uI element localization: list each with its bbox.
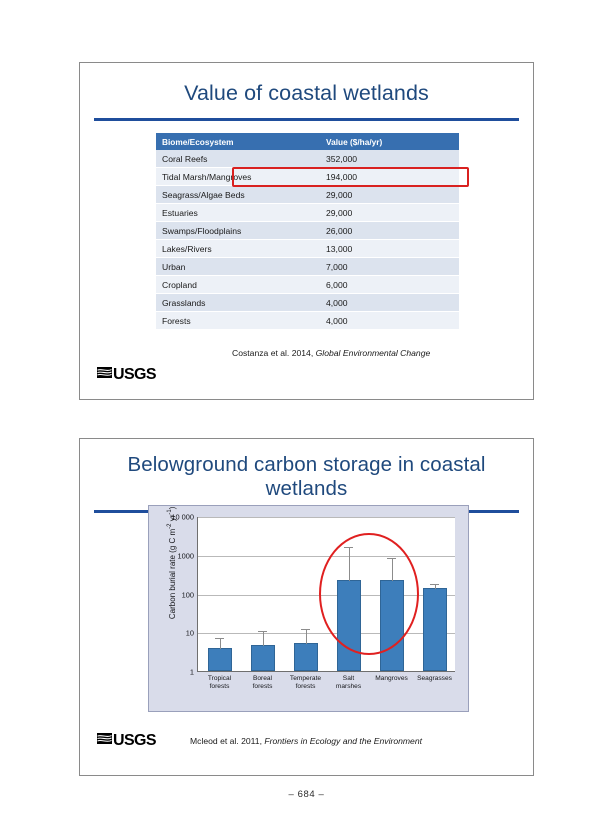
value-table-container: Biome/Ecosystem Value ($/ha/yr) Coral Re… xyxy=(156,133,459,330)
bar-mangroves xyxy=(380,580,404,671)
usgs-wave-icon xyxy=(97,365,112,385)
y-axis-title: Carbon burial rate (g C m-2 yr-1) xyxy=(167,488,177,638)
x-axis-tick-label: Tropical forests xyxy=(208,675,231,691)
document-page: Value of coastal wetlands Biome/Ecosyste… xyxy=(0,0,613,840)
gridline xyxy=(198,595,455,596)
y-axis-tick-label: 10 000 xyxy=(171,513,194,522)
cell-value: 6,000 xyxy=(320,276,459,294)
table-row: Estuaries29,000 xyxy=(156,204,459,222)
usgs-logo-2: USGS xyxy=(97,731,156,751)
carbon-burial-chart: Carbon burial rate (g C m-2 yr-1) 110100… xyxy=(148,505,469,712)
error-bar-cap xyxy=(258,631,267,632)
error-bar xyxy=(306,629,307,644)
value-table: Biome/Ecosystem Value ($/ha/yr) Coral Re… xyxy=(156,133,459,330)
column-header-biome: Biome/Ecosystem xyxy=(156,133,320,150)
bar-seagrasses xyxy=(423,588,447,671)
bar-boreal-forests xyxy=(251,645,275,671)
table-row: Tidal Marsh/Mangroves194,000 xyxy=(156,168,459,186)
y-axis-tick-label: 1 xyxy=(190,668,194,677)
error-bar-cap xyxy=(215,638,224,639)
error-bar xyxy=(220,638,221,649)
usgs-logo: USGS xyxy=(97,365,156,385)
table-header-row: Biome/Ecosystem Value ($/ha/yr) xyxy=(156,133,459,150)
cell-biome: Urban xyxy=(156,258,320,276)
cell-value: 26,000 xyxy=(320,222,459,240)
usgs-wave-icon-2 xyxy=(97,731,112,751)
page-number: – 684 – xyxy=(0,789,613,800)
citation-mcleod: Mcleod et al. 2011, Frontiers in Ecology… xyxy=(190,736,422,746)
cell-value: 194,000 xyxy=(320,168,459,186)
citation-costanza: Costanza et al. 2014, Global Environment… xyxy=(232,348,430,358)
title-divider xyxy=(94,118,519,121)
gridline xyxy=(198,556,455,557)
cell-value: 7,000 xyxy=(320,258,459,276)
y-axis-tick-label: 1000 xyxy=(178,551,194,560)
gridline xyxy=(198,517,455,518)
bar-temperate-forests xyxy=(294,643,318,671)
table-row: Urban7,000 xyxy=(156,258,459,276)
slide-belowground-carbon-storage: Belowground carbon storage in coastal we… xyxy=(79,438,534,776)
cell-value: 29,000 xyxy=(320,186,459,204)
x-axis-tick-label: Temperate forests xyxy=(290,675,321,691)
plot-area: 110100100010 000Tropical forestsBoreal f… xyxy=(197,517,455,672)
cell-value: 352,000 xyxy=(320,150,459,168)
table-row: Grasslands4,000 xyxy=(156,294,459,312)
citation-text-2: Mcleod et al. 2011, xyxy=(190,736,264,746)
citation-journal-2: Frontiers in Ecology and the Environment xyxy=(264,736,422,746)
table-row: Seagrass/Algae Beds29,000 xyxy=(156,186,459,204)
error-bar-cap xyxy=(301,629,310,630)
usgs-wordmark: USGS xyxy=(113,367,156,383)
y-axis-tick-label: 10 xyxy=(186,629,194,638)
table-row: Coral Reefs352,000 xyxy=(156,150,459,168)
x-axis-tick-label: Salt marshes xyxy=(336,675,361,691)
cell-biome: Seagrass/Algae Beds xyxy=(156,186,320,204)
cell-biome: Forests xyxy=(156,312,320,330)
bar-tropical-forests xyxy=(208,648,232,671)
error-bar xyxy=(263,631,264,646)
column-header-value: Value ($/ha/yr) xyxy=(320,133,459,150)
cell-biome: Grasslands xyxy=(156,294,320,312)
cell-biome: Tidal Marsh/Mangroves xyxy=(156,168,320,186)
cell-biome: Lakes/Rivers xyxy=(156,240,320,258)
page-title-2: Belowground carbon storage in coastal we… xyxy=(102,453,511,501)
citation-journal: Global Environmental Change xyxy=(316,348,431,358)
gridline xyxy=(198,633,455,634)
cell-value: 4,000 xyxy=(320,294,459,312)
table-row: Lakes/Rivers13,000 xyxy=(156,240,459,258)
table-row: Forests4,000 xyxy=(156,312,459,330)
y-axis-tick-label: 100 xyxy=(182,590,194,599)
slide-value-of-coastal-wetlands: Value of coastal wetlands Biome/Ecosyste… xyxy=(79,62,534,400)
cell-value: 29,000 xyxy=(320,204,459,222)
cell-biome: Estuaries xyxy=(156,204,320,222)
cell-biome: Coral Reefs xyxy=(156,150,320,168)
cell-value: 4,000 xyxy=(320,312,459,330)
table-row: Swamps/Floodplains26,000 xyxy=(156,222,459,240)
cell-biome: Swamps/Floodplains xyxy=(156,222,320,240)
error-bar-cap xyxy=(344,547,353,548)
error-bar xyxy=(349,547,350,582)
table-row: Cropland6,000 xyxy=(156,276,459,294)
x-axis-tick-label: Boreal forests xyxy=(253,675,273,691)
error-bar xyxy=(392,558,393,581)
cell-biome: Cropland xyxy=(156,276,320,294)
page-title: Value of coastal wetlands xyxy=(102,81,511,106)
bar-salt-marshes xyxy=(337,580,361,671)
usgs-wordmark-2: USGS xyxy=(113,733,156,749)
x-axis-tick-label: Seagrasses xyxy=(417,675,452,683)
x-axis-tick-label: Mangroves xyxy=(375,675,408,683)
error-bar-cap xyxy=(430,584,439,585)
citation-text: Costanza et al. 2014, xyxy=(232,348,316,358)
error-bar-cap xyxy=(387,558,396,559)
cell-value: 13,000 xyxy=(320,240,459,258)
